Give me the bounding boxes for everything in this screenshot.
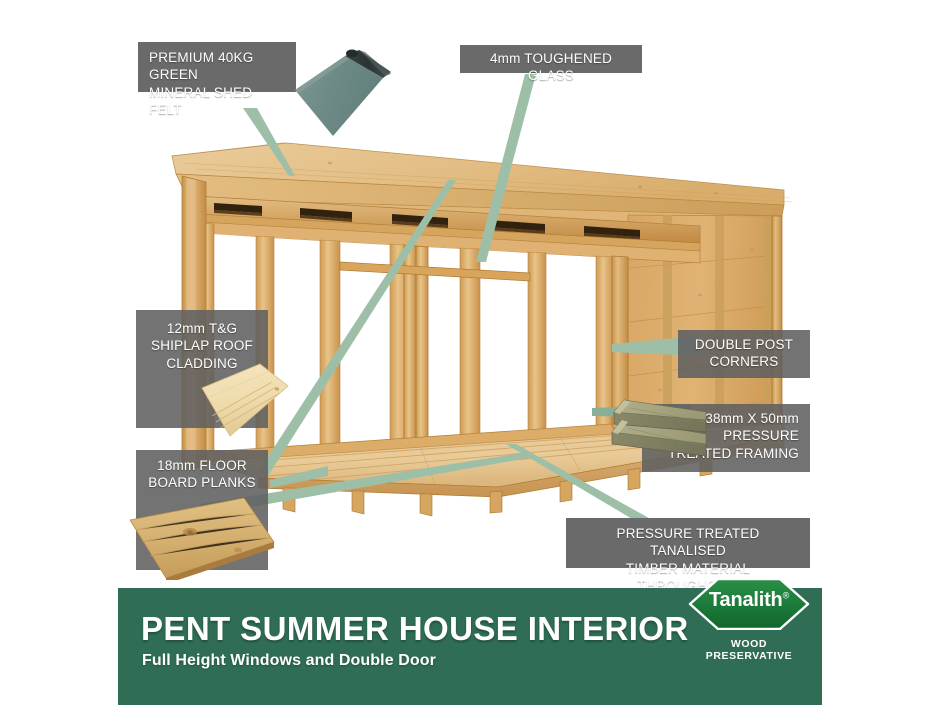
tanalith-wordmark: Tanalith® — [688, 589, 810, 612]
felt-roll-swatch — [293, 48, 393, 138]
callout-floor-boards-line-1: 18mm FLOOR — [147, 457, 257, 474]
leader-toughened-glass — [470, 74, 590, 264]
shiplap-board-swatch — [198, 362, 290, 440]
callout-toughened-glass: 4mm TOUGHENED GLASS — [460, 45, 642, 73]
callout-double-post-corners-line-2: CORNERS — [689, 353, 799, 370]
callout-roof-cladding-line-2: SHIPLAP ROOF — [147, 337, 257, 354]
callout-double-post-corners-line-1: DOUBLE POST — [689, 336, 799, 353]
callout-double-post-corners: DOUBLE POST CORNERS — [678, 330, 810, 378]
callout-tanalised-timber: PRESSURE TREATED TANALISED TIMBER MATERI… — [566, 518, 810, 568]
callout-roof-felt: PREMIUM 40KG GREEN MINERAL SHED FELT — [138, 42, 296, 92]
floor-plank-swatch — [126, 498, 276, 580]
callout-tanalised-timber-line-1: PRESSURE TREATED TANALISED — [577, 525, 799, 560]
tanalith-logo: Tanalith® WOOD PRESERVATIVE — [688, 578, 816, 664]
tanalith-name: Tanalith — [709, 589, 783, 611]
callout-roof-felt-line-1: PREMIUM 40KG GREEN — [149, 49, 285, 84]
callout-toughened-glass-line-1: 4mm TOUGHENED GLASS — [471, 50, 631, 85]
callout-roof-felt-line-2: MINERAL SHED FELT — [149, 84, 285, 119]
page-subtitle: Full Height Windows and Double Door — [142, 652, 436, 670]
tanalith-tagline: WOOD PRESERVATIVE — [688, 638, 810, 662]
leader-floor-secondary — [270, 466, 330, 506]
page-title: PENT SUMMER HOUSE INTERIOR — [141, 610, 689, 648]
callout-floor-boards-line-2: BOARD PLANKS — [147, 474, 257, 491]
registered-mark: ® — [783, 590, 789, 600]
product-diagram: PREMIUM 40KG GREEN MINERAL SHED FELT 4mm… — [0, 0, 940, 705]
framing-batten-swatch — [608, 388, 708, 460]
callout-roof-cladding-line-1: 12mm T&G — [147, 320, 257, 337]
